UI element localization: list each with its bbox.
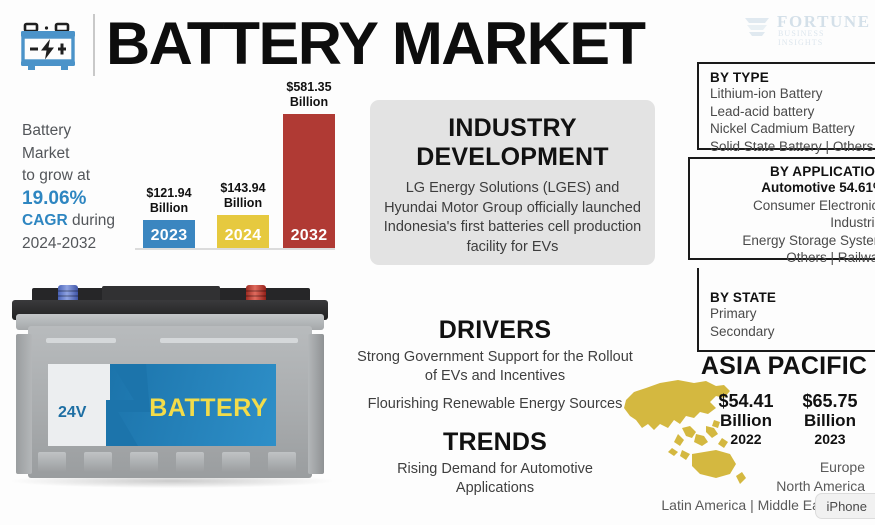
- stat-amount: $65.75: [791, 391, 869, 411]
- industry-title-line-1: INDUSTRY: [448, 114, 576, 143]
- stat-unit: Billion: [707, 411, 785, 430]
- industry-title-line-2: DEVELOPMENT: [416, 143, 609, 172]
- bar-unit: Billion: [290, 95, 328, 109]
- by-application-highlight: Automotive 54.61%: [690, 179, 875, 197]
- battery-side-right: [308, 334, 324, 474]
- bar-rect: 2024: [217, 215, 269, 248]
- cagr-period: 2024-2032: [22, 233, 134, 256]
- bar-amount: $121.94: [146, 186, 191, 200]
- by-state-heading: BY STATE: [710, 290, 875, 305]
- asia-pacific-stat-2023: $65.75 Billion 2023: [791, 391, 869, 448]
- drivers-item-1-line-1: Strong Government Support for the Rollou…: [335, 348, 655, 367]
- stat-unit: Billion: [791, 411, 869, 430]
- trends-title: TRENDS: [335, 428, 655, 457]
- cagr-during: during: [68, 212, 115, 229]
- bar-value-label: $143.94 Billion: [220, 181, 265, 210]
- by-type-item: Lithium-ion Battery: [710, 85, 875, 103]
- by-type-item: Nickel Cadmium Battery: [710, 120, 875, 138]
- battery-highlight-left: [46, 338, 116, 343]
- segment-by-state: BY STATE Primary Secondary: [697, 268, 875, 352]
- by-type-item: Solid State Battery | Others: [710, 138, 875, 156]
- battery-market-bar-chart: $121.94 Billion 2023 $143.94 Billion 202…: [135, 88, 345, 250]
- battery-word-label: BATTERY: [149, 394, 268, 423]
- battery-highlight-right: [160, 338, 298, 343]
- infographic-canvas: BATTERY MARKET FORTUNE BUSINESS INSIGHTS…: [0, 0, 875, 525]
- cagr-line-1: Battery: [22, 120, 134, 143]
- industry-development-panel: INDUSTRY DEVELOPMENT LG Energy Solutions…: [370, 100, 655, 265]
- by-application-item: Energy Storage System: [690, 232, 875, 250]
- by-type-item: Lead-acid battery: [710, 103, 875, 121]
- bar-amount: $581.35: [286, 80, 331, 94]
- bar-rect: 2032: [283, 114, 335, 248]
- by-type-heading: BY TYPE: [710, 70, 875, 85]
- asia-pacific-stat-2022: $54.41 Billion 2022: [707, 391, 785, 448]
- bar-year-label: 2024: [217, 227, 269, 245]
- battery-bolt-icon: [16, 18, 80, 72]
- segment-by-application: BY APPLICATION Automotive 54.61% Consume…: [688, 157, 875, 260]
- iphone-label: iPhone: [827, 499, 867, 514]
- cagr-label: CAGR: [22, 212, 68, 229]
- industry-body: LG Energy Solutions (LGES) and Hyundai M…: [384, 179, 642, 257]
- fb-monogram-icon: [743, 15, 773, 37]
- stat-year: 2023: [791, 431, 869, 448]
- region-item: Europe: [575, 458, 865, 477]
- by-application-item: Others | Railway: [690, 249, 875, 267]
- drivers-title: DRIVERS: [335, 316, 655, 345]
- iphone-overlay-pill[interactable]: iPhone: [815, 493, 875, 519]
- bar-year-label: 2023: [143, 227, 195, 245]
- battery-side-left: [16, 334, 32, 474]
- drivers-item-2: Flourishing Renewable Energy Sources: [335, 395, 655, 414]
- segment-by-type: BY TYPE Lithium-ion Battery Lead-acid ba…: [697, 62, 875, 150]
- battery-label: 24V BATTERY: [48, 364, 276, 446]
- bar-rect: 2023: [143, 220, 195, 248]
- by-state-item: Primary: [710, 305, 875, 323]
- fortune-business-insights-logo: FORTUNE BUSINESS INSIGHTS: [743, 14, 863, 44]
- by-application-item: Consumer Electronics: [690, 197, 875, 215]
- cagr-label-line: CAGR during: [22, 210, 134, 233]
- stat-year: 2022: [707, 431, 785, 448]
- cagr-line-2: Market: [22, 143, 134, 166]
- bar-year-label: 2032: [283, 227, 335, 245]
- bar-unit: Billion: [150, 201, 188, 215]
- brand-subtitle: BUSINESS INSIGHTS: [778, 29, 863, 47]
- cagr-line-3: to grow at: [22, 165, 134, 188]
- drivers-item-1-line-2: of EVs and Incentives: [335, 367, 655, 386]
- battery-feet: [32, 452, 308, 472]
- battery-voltage-label: 24V: [58, 404, 86, 422]
- bar-value-label: $121.94 Billion: [146, 186, 191, 215]
- chart-baseline: [135, 248, 335, 250]
- by-state-item: Secondary: [710, 323, 875, 341]
- stat-amount: $54.41: [707, 391, 785, 411]
- asia-pacific-title: ASIA PACIFIC: [700, 352, 868, 381]
- header-divider: [93, 14, 95, 76]
- car-battery-illustration: 24V BATTERY: [2, 276, 342, 516]
- bar-amount: $143.94: [220, 181, 265, 195]
- bar-value-label: $581.35 Billion: [286, 80, 331, 109]
- cagr-summary: Battery Market to grow at 19.06% CAGR du…: [22, 120, 134, 255]
- page-title: BATTERY MARKET: [106, 8, 644, 80]
- by-application-item: Industrial: [690, 214, 875, 232]
- by-application-heading: BY APPLICATION: [690, 164, 875, 179]
- cagr-rate: 19.06%: [22, 188, 134, 211]
- bar-unit: Billion: [224, 196, 262, 210]
